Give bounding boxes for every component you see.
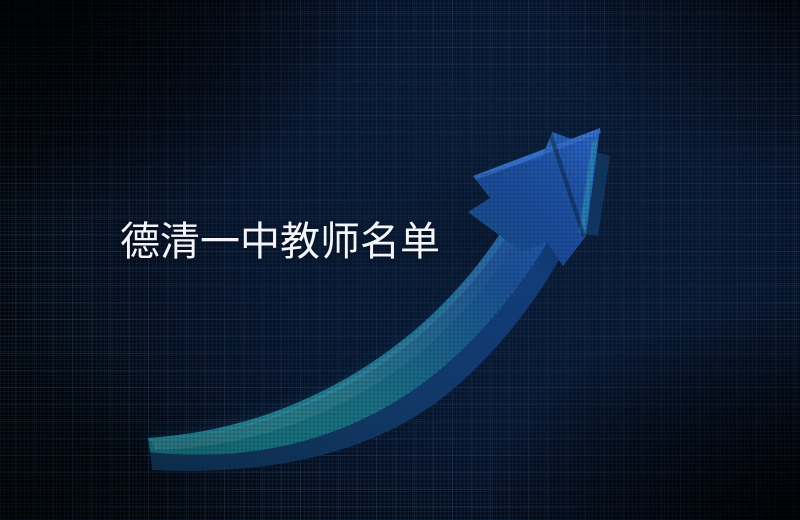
banner-canvas: 德清一中教师名单	[0, 0, 800, 520]
page-title: 德清一中教师名单	[120, 218, 440, 266]
